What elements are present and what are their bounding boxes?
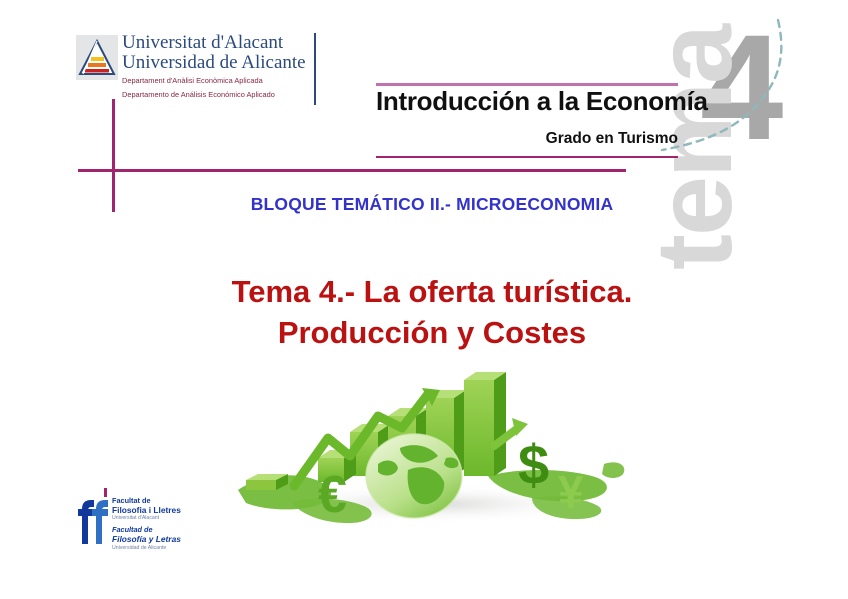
faculty-line2-spanish: Filosofía y Letras	[112, 534, 212, 544]
slide-canvas: 4 tema Universitat d'Alacant Universidad…	[0, 0, 848, 599]
horizontal-accent-rule	[78, 169, 626, 172]
faculty-logo-tick	[104, 488, 107, 497]
page-title-line2: Producción y Costes	[112, 313, 752, 354]
globe-icon	[366, 434, 462, 518]
university-logo-text: Universitat d'Alacant Universidad de Ali…	[122, 33, 318, 100]
green-economy-illustration: € $ ¥	[232, 372, 628, 530]
university-logo: Universitat d'Alacant Universidad de Ali…	[76, 33, 316, 109]
page-title-line1: Tema 4.- La oferta turística.	[112, 272, 752, 313]
faculty-line2-catalan: Filosofia i Lletres	[112, 505, 212, 515]
faculty-line1-catalan: Facultat de	[112, 496, 212, 505]
university-name-spanish: Universidad de Alicante	[122, 53, 318, 73]
course-title: Introducción a la Economía	[376, 86, 682, 117]
header-bottom-rule	[376, 156, 678, 158]
faculty-logo: Facultat de Filosofia i Lletres Universi…	[78, 496, 210, 552]
block-label: BLOQUE TEMÁTICO II.- MICROECONOMIA	[112, 194, 752, 215]
yen-symbol: ¥	[558, 466, 584, 518]
faculty-line1-spanish: Facultad de	[112, 525, 212, 534]
department-spanish: Departamento de Análisis Económico Aplic…	[122, 90, 318, 101]
university-name-catalan: Universitat d'Alacant	[122, 33, 318, 53]
ua-triangle-emblem-icon	[76, 35, 118, 80]
faculty-tiny-catalan: Universitat d'Alacant	[112, 515, 212, 522]
euro-symbol: €	[318, 466, 347, 524]
faculty-tiny-spanish: Universidad de Alicante	[112, 545, 212, 552]
department-catalan: Departament d'Anàlisi Econòmica Aplicada	[122, 76, 318, 87]
dollar-symbol: $	[518, 433, 549, 496]
degree-label: Grado en Turismo	[376, 130, 678, 148]
logo-divider	[314, 33, 316, 105]
faculty-logo-text: Facultat de Filosofia i Lletres Universi…	[112, 496, 212, 551]
faculty-ff-monogram-icon	[78, 500, 108, 544]
page-title: Tema 4.- La oferta turística. Producción…	[112, 272, 752, 354]
